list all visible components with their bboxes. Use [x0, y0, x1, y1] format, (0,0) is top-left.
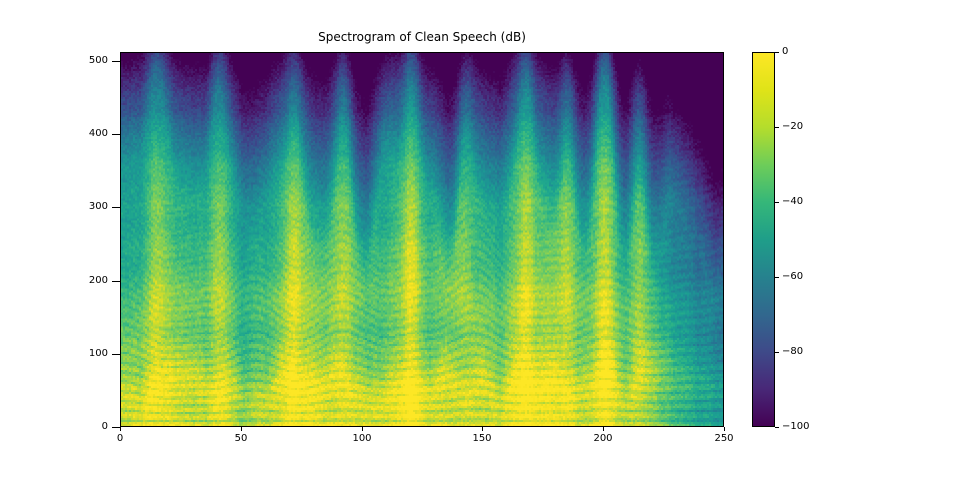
colorbar-tick-mark: [775, 427, 779, 428]
colorbar-tick-mark: [775, 202, 779, 203]
x-tick-mark: [362, 427, 363, 431]
spectrogram-heatmap: [121, 53, 723, 426]
x-tick-mark: [241, 427, 242, 431]
y-tick-mark: [112, 61, 120, 62]
y-tick-mark: [112, 281, 120, 282]
y-tick-mark: [112, 354, 120, 355]
x-tick-mark: [603, 427, 604, 431]
y-tick-label: 300: [89, 202, 108, 212]
colorbar-tick-label: −60: [782, 272, 803, 282]
y-tick-label: 100: [89, 349, 108, 359]
x-tick-label: 0: [117, 434, 123, 444]
matplotlib-figure: Spectrogram of Clean Speech (dB) 0100200…: [0, 0, 960, 480]
y-tick-label: 500: [89, 56, 108, 66]
colorbar-tick-label: −40: [782, 197, 803, 207]
x-tick-mark: [482, 427, 483, 431]
y-tick-label: 0: [102, 422, 108, 432]
colorbar-tick-mark: [775, 352, 779, 353]
y-tick-label: 200: [89, 276, 108, 286]
page-title: Spectrogram of Clean Speech (dB): [120, 30, 724, 44]
colorbar-tick-label: −80: [782, 347, 803, 357]
y-tick-mark: [112, 207, 120, 208]
colorbar-tick-label: 0: [782, 47, 788, 57]
colorbar-gradient: [753, 53, 774, 426]
x-tick-label: 150: [472, 434, 491, 444]
colorbar: [752, 52, 775, 427]
colorbar-tick-label: −100: [782, 422, 809, 432]
x-tick-label: 50: [235, 434, 248, 444]
y-tick-mark: [112, 134, 120, 135]
x-tick-mark: [120, 427, 121, 431]
colorbar-tick-mark: [775, 127, 779, 128]
colorbar-tick-mark: [775, 277, 779, 278]
x-tick-mark: [724, 427, 725, 431]
x-tick-label: 200: [593, 434, 612, 444]
y-tick-label: 400: [89, 129, 108, 139]
spectrogram-axes: [120, 52, 724, 427]
x-tick-label: 100: [352, 434, 371, 444]
y-tick-mark: [112, 427, 120, 428]
x-tick-label: 250: [714, 434, 733, 444]
colorbar-tick-mark: [775, 52, 779, 53]
colorbar-tick-label: −20: [782, 122, 803, 132]
